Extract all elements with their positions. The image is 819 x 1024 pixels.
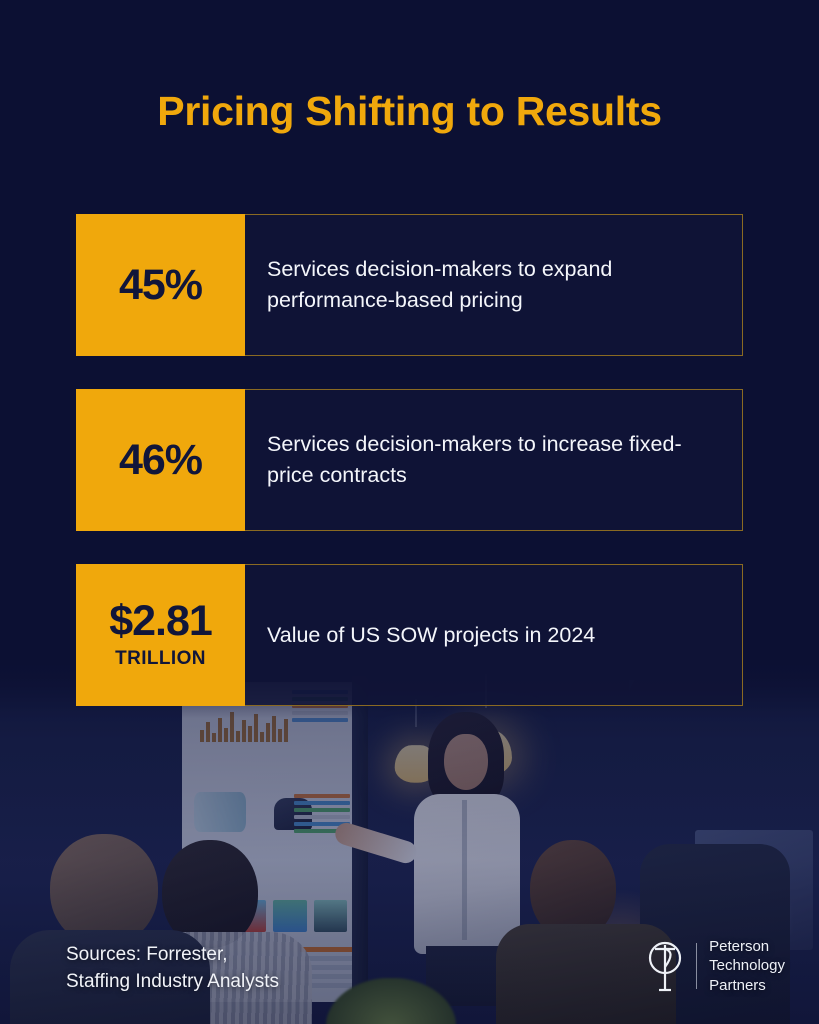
company-logo: Peterson Technology Partners [646,937,785,996]
stat-value-block: 46% [76,389,245,531]
stat-description: Services decision-makers to expand perfo… [245,215,742,355]
stat-value-block: $2.81 TRILLION [76,564,245,706]
stat-card-list: 45% Services decision-makers to expand p… [76,214,743,739]
ptp-monogram-icon [646,940,684,992]
stat-value-block: 45% [76,214,245,356]
stat-value: 45% [119,264,202,307]
page-title: Pricing Shifting to Results [0,88,819,135]
sources-note: Sources: Forrester, Staffing Industry An… [66,942,279,996]
stat-unit: TRILLION [115,648,206,670]
stat-value: $2.81 [109,600,212,643]
stat-description: Value of US SOW projects in 2024 [245,565,742,705]
logo-wordmark: Peterson Technology Partners [709,937,785,996]
logo-divider [696,943,697,989]
stat-card: 45% Services decision-makers to expand p… [76,214,743,356]
stat-card: 46% Services decision-makers to increase… [76,389,743,531]
infographic-canvas: Pricing Shifting to Results 45% Services… [0,0,819,1024]
stat-description: Services decision-makers to increase fix… [245,390,742,530]
stat-value: 46% [119,439,202,482]
stat-card: $2.81 TRILLION Value of US SOW projects … [76,564,743,706]
